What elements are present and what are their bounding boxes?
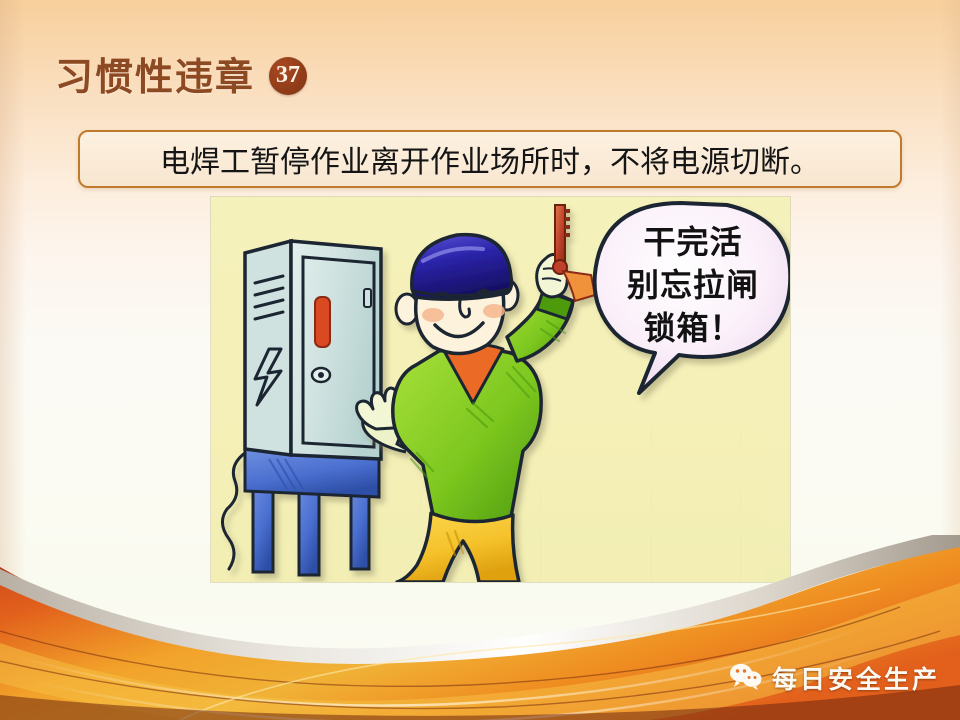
bubble-line-1: 干完活 <box>643 224 742 260</box>
right-edge-vignette <box>940 0 960 720</box>
bubble-line-2: 别忘拉闸 <box>627 267 759 303</box>
left-edge-vignette <box>0 0 26 720</box>
illustration-panel: 干完活 别忘拉闸 锁箱！ <box>211 197 790 582</box>
statement-text: 电焊工暂停作业离开作业场所时，不将电源切断。 <box>160 137 820 181</box>
page-header: 习惯性违章 37 <box>55 46 307 101</box>
slide-number-badge: 37 <box>269 57 307 95</box>
watermark: 每日安全生产 <box>729 660 940 696</box>
cartoon-illustration: 干完活 别忘拉闸 锁箱！ <box>211 197 790 582</box>
bubble-line-3: 锁箱！ <box>643 310 742 346</box>
wechat-icon <box>729 662 763 695</box>
page-title: 习惯性违章 <box>55 46 255 101</box>
watermark-text: 每日安全生产 <box>772 660 940 696</box>
statement-box: 电焊工暂停作业离开作业场所时，不将电源切断。 <box>78 130 902 188</box>
